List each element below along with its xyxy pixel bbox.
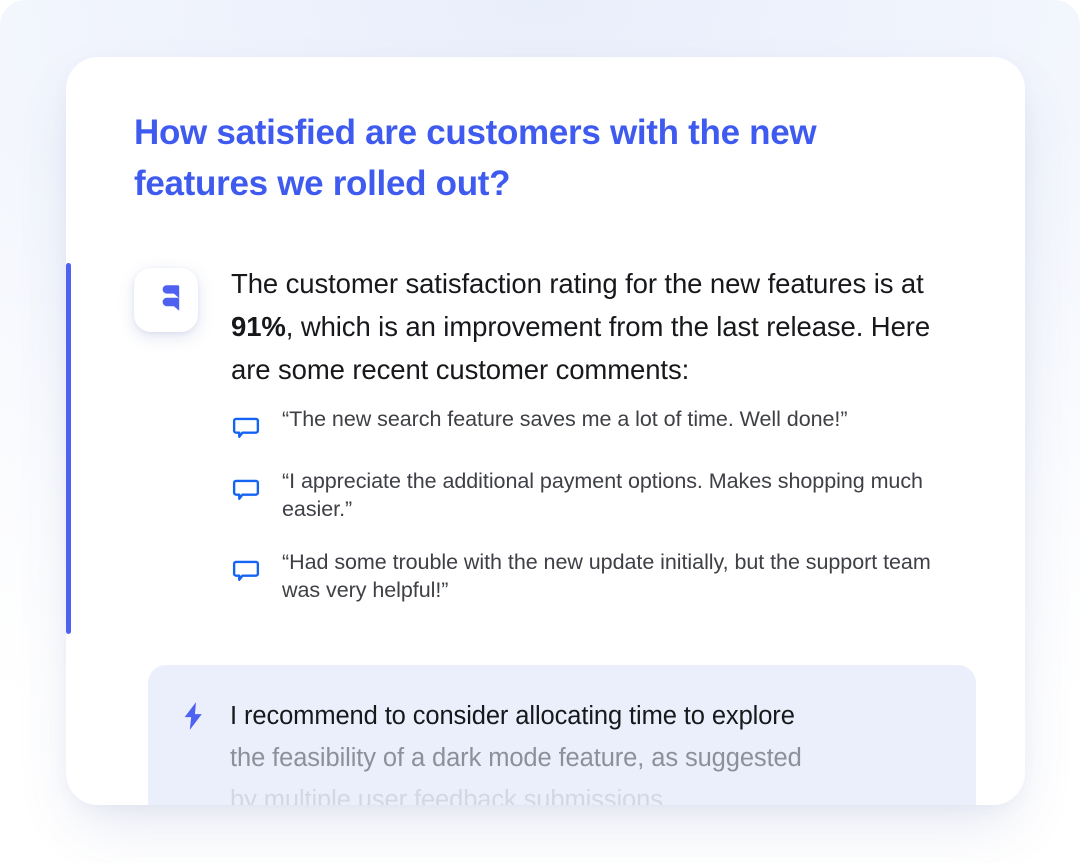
customer-comment-list: “The new search feature saves me a lot o… — [231, 405, 961, 604]
answer-prefix: The customer satisfaction rating for the… — [231, 268, 924, 299]
accent-rail — [66, 263, 71, 634]
speech-bubble-icon — [231, 555, 261, 585]
speech-s-logo-icon — [146, 278, 186, 323]
answer-suffix: , which is an improvement from the last … — [231, 311, 930, 385]
speech-bubble-icon — [231, 412, 261, 442]
page-title: How satisfied are customers with the new… — [134, 107, 894, 209]
recommendation-line-1: I recommend to consider allocating time … — [230, 695, 952, 737]
list-item: “Had some trouble with the new update in… — [231, 548, 961, 604]
answer-text: The customer satisfaction rating for the… — [231, 262, 964, 391]
page-background: How satisfied are customers with the new… — [0, 0, 1080, 863]
comment-text: “I appreciate the additional payment opt… — [282, 467, 961, 523]
recommendation-text: I recommend to consider allocating time … — [230, 695, 952, 805]
recommendation-line-2: the feasibility of a dark mode feature, … — [230, 737, 952, 779]
comment-text: “The new search feature saves me a lot o… — [282, 405, 961, 433]
recommendation-callout: I recommend to consider allocating time … — [148, 665, 976, 805]
assistant-avatar — [134, 268, 198, 332]
answer-block: The customer satisfaction rating for the… — [134, 262, 964, 391]
list-item: “I appreciate the additional payment opt… — [231, 467, 961, 523]
comment-text: “Had some trouble with the new update in… — [282, 548, 961, 604]
recommendation-line-3: by multiple user feedback submissions. — [230, 779, 952, 805]
insight-card: How satisfied are customers with the new… — [66, 57, 1025, 805]
list-item: “The new search feature saves me a lot o… — [231, 405, 961, 442]
lightning-bolt-icon — [180, 701, 206, 731]
answer-highlight: 91% — [231, 311, 286, 342]
speech-bubble-icon — [231, 474, 261, 504]
